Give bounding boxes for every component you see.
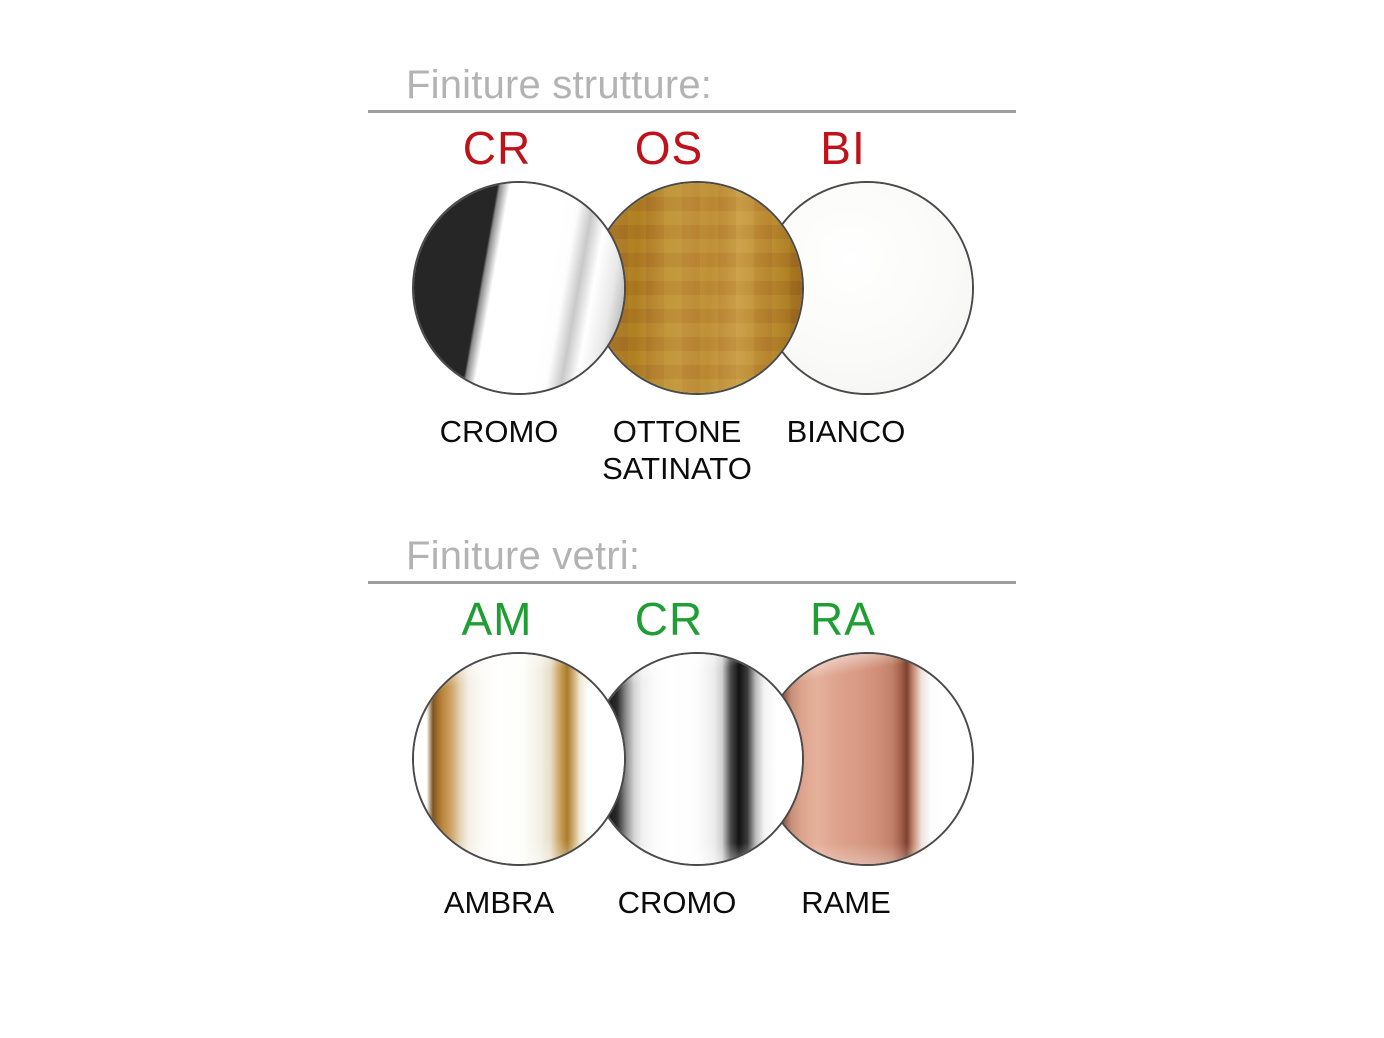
section-finiture-vetri: Finiture vetri: AM CR RA AMBRA CROMO RAM… — [368, 533, 1016, 970]
swatch-code-os-struttura[interactable]: OS — [584, 119, 754, 177]
swatch-row-strutture — [368, 181, 1016, 403]
labels-row-strutture: CROMO OTTONE SATINATO BIANCO — [368, 413, 1016, 499]
amber-glass-fill — [414, 654, 624, 864]
swatch-code-ra-vetro[interactable]: RA — [758, 590, 928, 648]
section-divider-strutture — [368, 110, 1016, 113]
swatch-code-bi-struttura[interactable]: BI — [758, 119, 928, 177]
labels-row-vetri: AMBRA CROMO RAME — [368, 884, 1016, 970]
circle-swatch-chrome[interactable] — [412, 181, 626, 395]
section-divider-vetri — [368, 581, 1016, 584]
swatch-row-vetri — [368, 652, 1016, 874]
swatch-label-cromo-struttura: CROMO — [399, 413, 599, 450]
section-title-strutture: Finiture strutture: — [368, 62, 1016, 108]
section-title-vetri: Finiture vetri: — [368, 533, 1016, 579]
circle-swatch-amber-glass[interactable] — [412, 652, 626, 866]
codes-row-strutture: CR OS BI — [368, 119, 1016, 181]
swatch-label-ambra: AMBRA — [399, 884, 599, 921]
swatch-code-am-vetro[interactable]: AM — [412, 590, 582, 648]
codes-row-vetri: AM CR RA — [368, 590, 1016, 652]
swatch-label-bianco: BIANCO — [746, 413, 946, 450]
section-finiture-strutture: Finiture strutture: CR OS BI CROMO OTTON… — [368, 62, 1016, 499]
finishes-chart: Finiture strutture: CR OS BI CROMO OTTON… — [0, 0, 1384, 1038]
chrome-finish-fill — [414, 183, 624, 393]
swatch-label-rame: RAME — [746, 884, 946, 921]
swatch-code-cr-struttura[interactable]: CR — [412, 119, 582, 177]
swatch-code-cr-vetro[interactable]: CR — [584, 590, 754, 648]
